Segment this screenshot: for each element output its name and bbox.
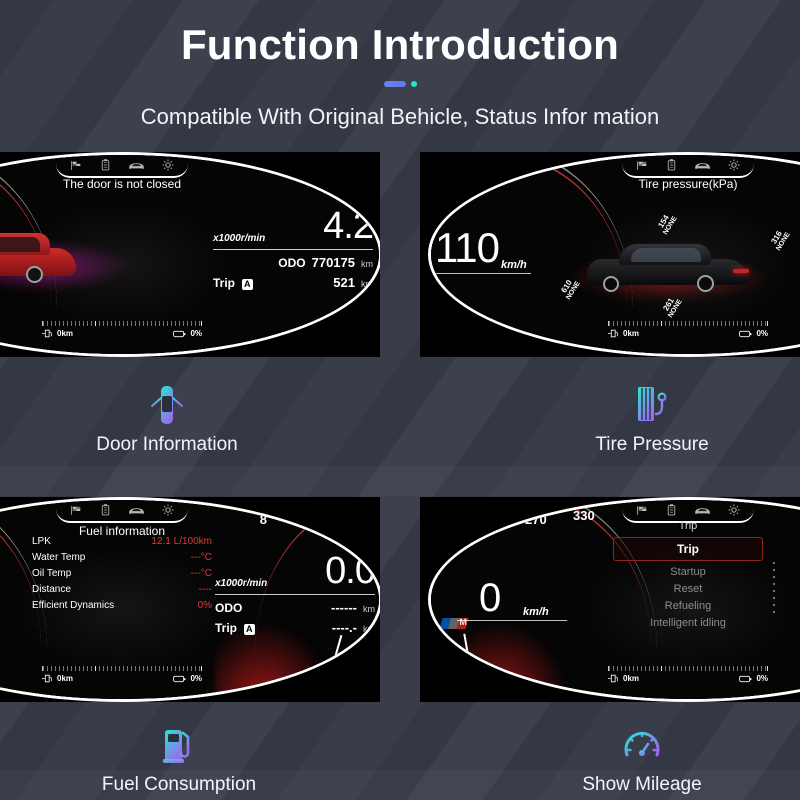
menu-item-reset[interactable]: Reset xyxy=(613,583,763,595)
caption-label: Fuel Consumption xyxy=(29,774,329,796)
trip-row: Trip A 521 km xyxy=(213,275,373,290)
accent-dot xyxy=(411,81,417,87)
trip-value: 521 xyxy=(333,275,355,290)
rpm-odo-block: 4.2 x1000r/min ODO 770175 km Trip A 521 … xyxy=(213,207,373,290)
info-key: Oil Temp xyxy=(32,568,71,579)
rpm-label: x1000r/min xyxy=(215,578,267,589)
cluster-icon-strip[interactable] xyxy=(56,157,188,178)
panel-show-mileage[interactable]: 150 210 270 330 8 6 Trip Trip Startup Re… xyxy=(420,497,800,702)
battery-level-icon xyxy=(739,675,752,683)
fuel-range-value: 0km xyxy=(623,329,639,338)
fuel-range-value: 0km xyxy=(623,674,639,683)
gauge-number-150: 150 xyxy=(433,528,455,543)
caption-show-mileage: Show Mileage xyxy=(492,722,792,796)
car-front-icon[interactable] xyxy=(694,506,711,515)
page-root: Function Introduction Compatible With Or… xyxy=(0,0,800,800)
instrument-cluster: 270 330 8 6 5 Fuel information LPK 12.1 … xyxy=(0,497,380,702)
gauge-number-5: 5 xyxy=(346,524,353,539)
fuel-bar-segments xyxy=(42,666,202,671)
trip-row: Trip A ----.- km xyxy=(215,620,375,635)
odo-unit: km xyxy=(361,259,373,269)
checkered-flag-icon[interactable] xyxy=(636,160,649,171)
accent-pill xyxy=(384,81,406,87)
tire-label-front-right: 316 NONE xyxy=(768,226,793,252)
gauge-number-210: 210 xyxy=(473,520,495,535)
fuel-battery-row: 0km 0% xyxy=(42,329,202,338)
speedometer-icon xyxy=(492,722,792,768)
fuel-battery-row: 0km 0% xyxy=(42,674,202,683)
panel-tire-pressure[interactable]: 270 330 8 6 Tire pressure(kPa) xyxy=(420,152,800,357)
fuel-range-icon xyxy=(608,674,619,683)
fuel-range-icon xyxy=(42,674,53,683)
speed-unit: km/h xyxy=(523,606,549,618)
rpm-corner-label: x1000 xyxy=(340,338,371,350)
odo-row: ODO ------ km xyxy=(215,600,375,615)
fuel-range-value: 0km xyxy=(57,329,73,338)
accent-divider xyxy=(0,81,800,87)
menu-scroll-indicator[interactable] xyxy=(773,562,775,614)
trip-value: ----.- xyxy=(332,620,357,635)
cluster-screen: 270 330 8 6 The door is not closed xyxy=(0,155,379,354)
info-key: Distance xyxy=(32,584,71,595)
speed-unit: km/h xyxy=(501,259,527,271)
caption-label: Tire Pressure xyxy=(502,434,800,456)
cluster-screen: 270 330 8 6 Tire pressure(kPa) xyxy=(431,155,800,354)
info-key: Efficient Dynamics xyxy=(32,600,114,611)
info-row: Efficient Dynamics 0% xyxy=(32,600,212,611)
info-value: ---- xyxy=(199,584,212,595)
gear-icon[interactable] xyxy=(162,159,174,171)
rpm-odo-block: 0.0 x1000r/min ODO ------ km Trip A ----… xyxy=(215,552,375,635)
fuel-battery-bar: 0km 0% xyxy=(42,321,202,338)
instrument-cluster: 270 330 8 6 Tire pressure(kPa) xyxy=(428,152,800,357)
info-value: ---°C xyxy=(191,552,212,563)
panel-fuel-consumption[interactable]: 270 330 8 6 5 Fuel information LPK 12.1 … xyxy=(0,497,380,702)
fuel-information-list: LPK 12.1 L/100km Water Temp ---°C Oil Te… xyxy=(32,536,212,616)
fuel-range-value: 0km xyxy=(57,674,73,683)
gear-icon[interactable] xyxy=(728,504,740,516)
speed-value: 0 xyxy=(479,578,500,618)
fuel-bar-segments xyxy=(608,666,768,671)
fuel-pump-icon xyxy=(29,722,329,768)
car-front-icon[interactable] xyxy=(694,161,711,170)
info-value: ---°C xyxy=(191,568,212,579)
cluster-message: The door is not closed xyxy=(63,177,181,191)
gauge-number-330: 330 xyxy=(573,508,595,523)
battery-level-value: 0% xyxy=(756,674,768,683)
checkered-flag-icon[interactable] xyxy=(70,505,83,516)
speed-value: 110 xyxy=(435,227,499,269)
trip-key: Trip xyxy=(215,621,237,635)
instrument-cluster: 150 210 270 330 8 6 Trip Trip Startup Re… xyxy=(428,497,800,702)
page-subtitle: Compatible With Original Behicle, Status… xyxy=(0,104,800,130)
gauge-number-8: 8 xyxy=(260,512,267,527)
caption-door-information: Door Information xyxy=(17,382,317,456)
page-title: Function Introduction xyxy=(0,22,800,67)
odo-unit: km xyxy=(363,604,375,614)
fuel-battery-row: 0km 0% xyxy=(608,674,768,683)
odo-key: ODO xyxy=(215,601,242,615)
trip-badge: A xyxy=(242,279,253,290)
fuel-range-icon xyxy=(608,329,619,338)
checkered-flag-icon[interactable] xyxy=(636,505,649,516)
battery-level-value: 0% xyxy=(190,674,202,683)
car-doors-open-icon xyxy=(17,382,317,428)
checkered-flag-icon[interactable] xyxy=(70,160,83,171)
gear-icon[interactable] xyxy=(728,159,740,171)
fuel-battery-bar: 0km 0% xyxy=(42,666,202,683)
info-row: LPK 12.1 L/100km xyxy=(32,536,212,547)
gauge-number-6: 6 xyxy=(352,163,359,178)
caption-label: Show Mileage xyxy=(492,774,792,796)
fuel-bar-segments xyxy=(42,321,202,326)
background-band-upper xyxy=(0,466,800,496)
trip-unit: km xyxy=(363,624,375,634)
info-row: Distance ---- xyxy=(32,584,212,595)
caption-fuel-consumption: Fuel Consumption xyxy=(29,722,329,796)
info-row: Oil Temp ---°C xyxy=(32,568,212,579)
speed-rule xyxy=(431,273,531,274)
rpm-corner-label: x1000r/min xyxy=(300,683,357,695)
gauge-number-270: 270 xyxy=(443,163,465,178)
battery-level-value: 0% xyxy=(190,329,202,338)
battery-icon[interactable] xyxy=(100,504,111,516)
car-illustration xyxy=(0,224,88,286)
tire-label-front-left: 154 NONE xyxy=(655,210,680,236)
battery-level-icon xyxy=(173,675,186,683)
info-value: 12.1 L/100km xyxy=(151,536,212,547)
odo-value: 770175 xyxy=(312,255,355,270)
header: Function Introduction Compatible With Or… xyxy=(0,0,800,130)
battery-icon[interactable] xyxy=(666,504,677,516)
menu-header: Trip xyxy=(613,520,763,532)
panel-door-information[interactable]: 270 330 8 6 The door is not closed xyxy=(0,152,380,357)
caption-tire-pressure: Tire Pressure xyxy=(502,382,800,456)
fuel-battery-row: 0km 0% xyxy=(608,329,768,338)
gear-icon[interactable] xyxy=(162,504,174,516)
trip-key: Trip xyxy=(213,276,235,290)
fuel-bar-segments xyxy=(608,321,768,326)
rpm-rule xyxy=(213,249,373,250)
info-key: LPK xyxy=(32,536,51,547)
gauge-number-6: 6 xyxy=(308,516,315,531)
trip-unit: km xyxy=(361,279,373,289)
gauge-number-8: 8 xyxy=(294,161,301,176)
battery-level-icon xyxy=(173,330,186,338)
info-key: Water Temp xyxy=(32,552,85,563)
cluster-screen: 150 210 270 330 8 6 Trip Trip Startup Re… xyxy=(431,500,800,699)
speed-unit-lower: km/h xyxy=(475,676,498,687)
info-value: 0% xyxy=(198,600,212,611)
caption-label: Door Information xyxy=(17,434,317,456)
odo-value: ------ xyxy=(331,600,357,615)
trip-badge: A xyxy=(244,624,255,635)
rpm-rule xyxy=(215,594,375,595)
fuel-battery-bar: 0km 0% xyxy=(608,666,768,683)
gauge-number-270: 270 xyxy=(525,512,547,527)
menu-item-startup[interactable]: Startup xyxy=(613,566,763,578)
cluster-message: Tire pressure(kPa) xyxy=(639,177,738,191)
fuel-range-icon xyxy=(42,329,53,338)
info-row: Water Temp ---°C xyxy=(32,552,212,563)
car-front-icon[interactable] xyxy=(128,506,145,515)
tire-gauge-icon xyxy=(502,382,800,428)
car-illustration xyxy=(579,237,755,295)
cluster-icon-strip[interactable] xyxy=(622,157,754,178)
instrument-cluster: 270 330 8 6 The door is not closed xyxy=(0,152,380,357)
cluster-screen: 270 330 8 6 5 Fuel information LPK 12.1 … xyxy=(0,500,379,699)
battery-icon[interactable] xyxy=(100,159,111,171)
battery-icon[interactable] xyxy=(666,159,677,171)
cluster-icon-strip[interactable] xyxy=(56,502,188,523)
menu-item-intelligent-idling[interactable]: Intelligent idling xyxy=(613,617,763,629)
odo-row: ODO 770175 km xyxy=(213,255,373,270)
rpm-label: x1000r/min xyxy=(213,233,265,244)
fuel-battery-bar: 0km 0% xyxy=(608,321,768,338)
car-front-icon[interactable] xyxy=(128,161,145,170)
menu-item-selected[interactable]: Trip xyxy=(613,537,763,561)
battery-level-icon xyxy=(739,330,752,338)
trip-menu[interactable]: Trip Trip Startup Reset Refueling Intell… xyxy=(613,520,763,634)
odo-key: ODO xyxy=(278,256,305,270)
menu-item-refueling[interactable]: Refueling xyxy=(613,600,763,612)
gauge-number-330: 330 xyxy=(487,157,509,172)
battery-level-value: 0% xyxy=(756,329,768,338)
